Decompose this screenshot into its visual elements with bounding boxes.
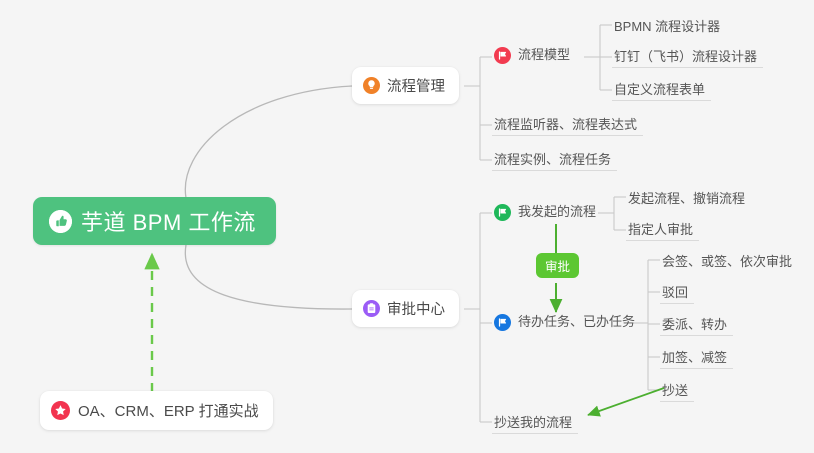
flag-blue-icon [494,314,511,331]
root-node-label: 芋道 BPM 工作流 [81,205,256,237]
node-label: 抄送 [662,384,688,399]
node-cc-my-process[interactable]: 抄送我的流程 [492,408,578,434]
node-cc[interactable]: 抄送 [660,376,694,402]
star-icon [51,401,70,420]
bottom-note-node[interactable]: OA、CRM、ERP 打通实战 [40,391,273,430]
approval-flow-badge: 审批 [536,253,579,278]
node-label: 流程模型 [518,48,570,63]
node-todo-done-tasks[interactable]: 待办任务、已办任务 [492,310,641,336]
badge-label: 审批 [545,256,570,275]
flag-red-icon [494,47,511,64]
node-dingtalk-designer[interactable]: 钉钉（飞书）流程设计器 [612,42,763,68]
node-label: 流程监听器、流程表达式 [494,118,637,133]
node-label: 加签、减签 [662,351,727,366]
node-process-instance[interactable]: 流程实例、流程任务 [492,145,617,171]
node-label: 指定人审批 [628,223,693,238]
node-label: 抄送我的流程 [494,416,572,431]
branch-node-process-management[interactable]: 流程管理 [352,67,459,104]
lightbulb-icon [363,77,380,94]
node-label: 驳回 [662,286,688,301]
node-my-started-process[interactable]: 我发起的流程 [492,200,602,226]
branch-node-approval-center[interactable]: 审批中心 [352,290,459,327]
node-bpmn-designer[interactable]: BPMN 流程设计器 [612,11,726,37]
node-countersign[interactable]: 会签、或签、依次审批 [660,246,798,272]
clipboard-icon [363,300,380,317]
node-label: 流程实例、流程任务 [494,153,611,168]
node-assignee-approval[interactable]: 指定人审批 [626,215,699,241]
node-label: BPMN 流程设计器 [614,20,720,35]
node-add-remove-sign[interactable]: 加签、减签 [660,343,733,369]
branch-label: 流程管理 [387,75,445,96]
bottom-note-label: OA、CRM、ERP 打通实战 [78,400,259,421]
branch-label: 审批中心 [387,298,445,319]
node-process-listener[interactable]: 流程监听器、流程表达式 [492,110,643,136]
flag-green-icon [494,204,511,221]
node-label: 自定义流程表单 [614,83,705,98]
root-node[interactable]: 芋道 BPM 工作流 [33,197,276,245]
thumbs-up-icon [49,210,72,233]
node-process-model[interactable]: 流程模型 [492,43,576,69]
node-label: 我发起的流程 [518,205,596,220]
node-delegate-transfer[interactable]: 委派、转办 [660,310,733,336]
node-custom-form[interactable]: 自定义流程表单 [612,75,711,101]
node-label: 委派、转办 [662,318,727,333]
node-label: 待办任务、已办任务 [518,315,635,330]
node-label: 会签、或签、依次审批 [662,255,792,270]
node-start-cancel-process[interactable]: 发起流程、撤销流程 [626,183,751,209]
node-label: 钉钉（飞书）流程设计器 [614,50,757,65]
node-label: 发起流程、撤销流程 [628,192,745,207]
mindmap-canvas: 芋道 BPM 工作流 OA、CRM、ERP 打通实战 流程管理 流程模型 [0,0,814,453]
node-reject[interactable]: 驳回 [660,278,694,304]
